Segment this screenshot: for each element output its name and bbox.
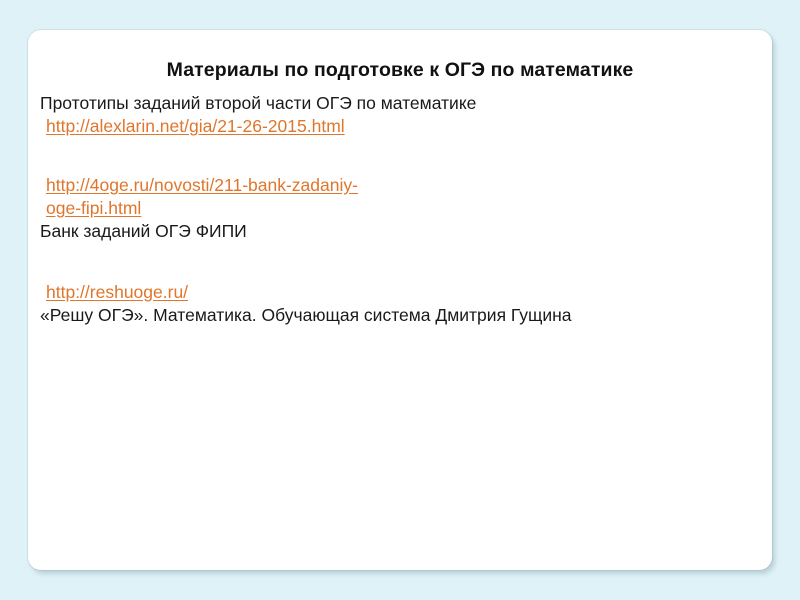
spacer-2 [40,243,754,281]
slide-body: Прототипы заданий второй части ОГЭ по ма… [40,92,754,327]
link-alexlarin[interactable]: http://alexlarin.net/gia/21-26-2015.html [40,115,345,138]
content-block-1: Прототипы заданий второй части ОГЭ по ма… [40,92,754,138]
link-reshuoge[interactable]: http://reshuoge.ru/ [40,281,188,304]
content-block-3: http://reshuoge.ru/ «Решу ОГЭ». Математи… [40,281,754,327]
slide-stage: Материалы по подготовке к ОГЭ по математ… [0,0,800,600]
page-title: Материалы по подготовке к ОГЭ по математ… [28,59,772,82]
block-1-description: Прототипы заданий второй части ОГЭ по ма… [40,92,754,115]
block-2-description: Банк заданий ОГЭ ФИПИ [40,220,754,243]
spacer-1 [40,138,754,174]
content-block-2: http://4oge.ru/novosti/211-bank-zadaniy-… [40,174,754,243]
block-3-description: «Решу ОГЭ». Математика. Обучающая систем… [40,304,754,327]
slide-card: Материалы по подготовке к ОГЭ по математ… [28,30,772,570]
link-4oge-part-1[interactable]: http://4oge.ru/novosti/211-bank-zadaniy- [40,174,358,197]
link-4oge-part-2[interactable]: oge-fipi.html [40,197,141,220]
